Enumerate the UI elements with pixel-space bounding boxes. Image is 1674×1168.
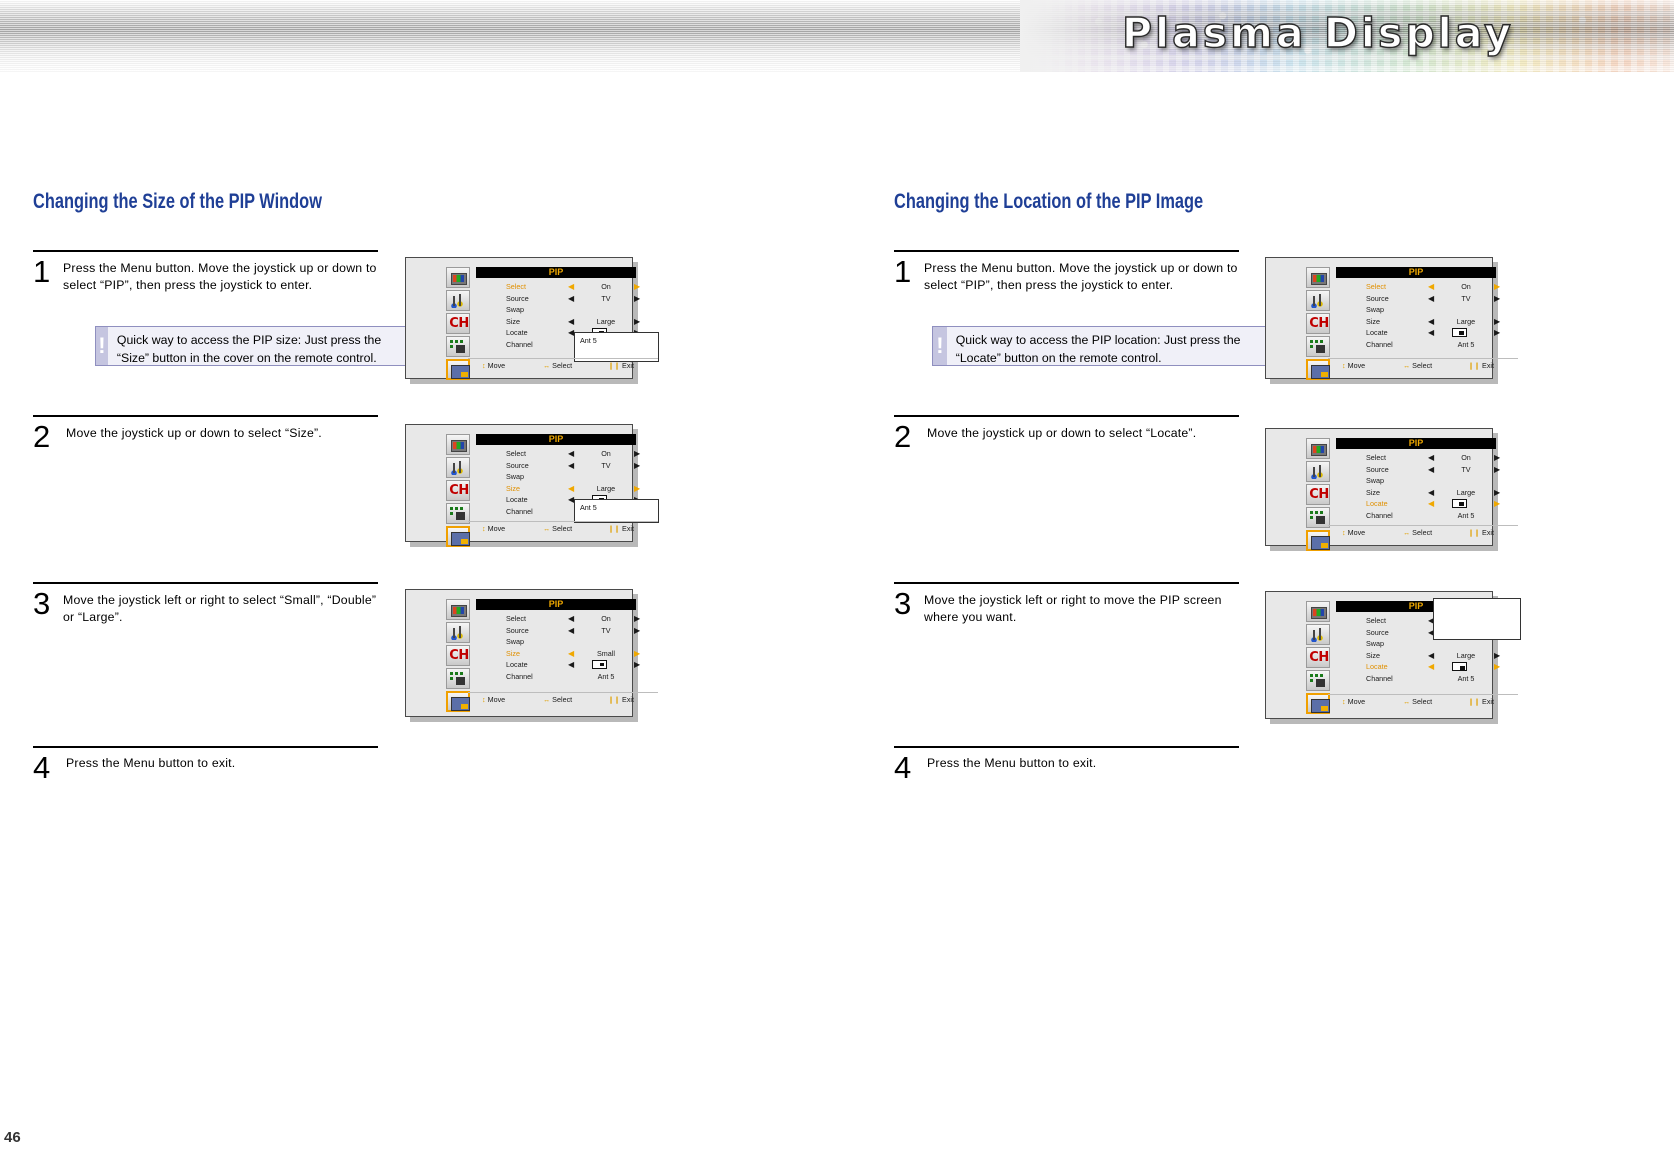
osd-illustration-left_page-step3: CHPIPSelect◀▶OnSource◀▶TVSwapSize◀▶Small… — [405, 589, 633, 717]
osd-footer-select[interactable]: ↔ Select — [1403, 697, 1432, 706]
page-title-left: Changing the Size of the PIP Window — [33, 190, 322, 214]
osd-title-bar: PIP — [476, 599, 636, 610]
step-number: 4 — [894, 752, 922, 783]
osd-row-label: Channel — [506, 672, 533, 681]
osd-row-value: On — [576, 282, 636, 291]
locate-dot — [1460, 666, 1465, 670]
osd-footer-move[interactable]: ↕ Move — [482, 524, 505, 533]
osd-row-value: Large — [1436, 488, 1496, 497]
osd-row-value: Ant 5 — [1436, 511, 1496, 520]
right-arrow-icon[interactable]: ▶ — [1494, 663, 1500, 671]
osd-row-value: Large — [576, 484, 636, 493]
osd-menu-row-source[interactable]: Source◀▶TV — [506, 461, 646, 473]
osd-menu-row-source[interactable]: Source◀▶TV — [506, 294, 646, 306]
left-arrow-icon[interactable]: ◀ — [1428, 489, 1434, 497]
osd-menu-row-select[interactable]: Select◀▶On — [506, 614, 646, 626]
osd-row-label: Select — [1366, 282, 1386, 291]
setup-icon[interactable] — [1306, 336, 1330, 357]
ch-icon[interactable]: CH — [1306, 313, 1330, 334]
osd-screen: CHPIPSelect◀▶OnSource◀▶TVSwapSize◀▶Large… — [1265, 591, 1493, 719]
osd-footer-exit[interactable]: ❙❙ Exit — [1468, 528, 1494, 537]
footer-glyph-icon: ❙❙ — [1468, 528, 1480, 537]
osd-row-label: Select — [506, 282, 526, 291]
pip-icon[interactable] — [1306, 693, 1330, 714]
step-number: 4 — [33, 752, 61, 783]
footer-glyph-icon: ↕ — [1342, 528, 1346, 537]
step-number: 1 — [33, 256, 61, 287]
left-arrow-icon[interactable]: ◀ — [1428, 329, 1434, 337]
step-text: Move the joystick left or right to selec… — [63, 592, 378, 627]
step-rule — [33, 746, 378, 748]
osd-row-label: Source — [506, 294, 529, 303]
osd-row-value: Ant 5 — [1436, 674, 1496, 683]
osd-row-label: Channel — [506, 507, 533, 516]
music-note-icon[interactable] — [446, 290, 470, 311]
ch-icon[interactable]: CH — [1306, 484, 1330, 505]
step-number: 3 — [894, 588, 922, 619]
right-arrow-icon[interactable]: ▶ — [1494, 500, 1500, 508]
footer-glyph-icon: ↕ — [1342, 361, 1346, 370]
osd-illustration-right_page-step3: CHPIPSelect◀▶OnSource◀▶TVSwapSize◀▶Large… — [1265, 591, 1493, 719]
left-arrow-icon[interactable]: ◀ — [1428, 663, 1434, 671]
osd-footer-select[interactable]: ↔ Select — [543, 361, 572, 370]
osd-illustration-right_page-step2: CHPIPSelect◀▶OnSource◀▶TVSwapSize◀▶Large… — [1265, 428, 1493, 546]
footer-glyph-icon: ↔ — [1403, 528, 1410, 537]
osd-row-value: Large — [576, 317, 636, 326]
tv-icon[interactable] — [1306, 601, 1330, 622]
osd-row-label: Swap — [1366, 305, 1384, 314]
osd-row-value: On — [1436, 453, 1496, 462]
pip-icon[interactable] — [1306, 530, 1330, 551]
osd-row-value: Ant 5 — [1436, 340, 1496, 349]
osd-title-bar: PIP — [476, 267, 636, 278]
osd-row-value: On — [576, 614, 636, 623]
osd-row-value: TV — [576, 461, 636, 470]
page-title-right: Changing the Location of the PIP Image — [894, 190, 1203, 214]
pip-icon[interactable] — [446, 359, 470, 380]
locate-position-indicator — [592, 660, 607, 669]
step-rule — [894, 250, 1239, 252]
osd-illustration-left_page-step2: CHPIPSelect◀▶OnSource◀▶TVSwapSize◀▶Large… — [405, 424, 633, 542]
locate-dot — [1459, 502, 1464, 506]
osd-row-label: Source — [1366, 628, 1389, 637]
osd-row-label: Size — [1366, 488, 1380, 497]
locate-position-indicator — [1452, 499, 1467, 508]
music-note-icon[interactable] — [1306, 461, 1330, 482]
osd-menu-row-source[interactable]: Source◀▶TV — [1366, 294, 1506, 306]
osd-menu-row-select[interactable]: Select◀▶On — [1366, 282, 1506, 294]
step-rule — [894, 582, 1239, 584]
osd-row-value: Large — [1436, 651, 1496, 660]
osd-menu-row-size[interactable]: Size◀▶Large — [1366, 317, 1506, 329]
step-number: 2 — [33, 421, 61, 452]
footer-glyph-icon: ❙❙ — [608, 695, 620, 704]
osd-row-label: Swap — [506, 305, 524, 314]
footer-glyph-icon: ↔ — [543, 361, 550, 370]
osd-row-value: TV — [576, 294, 636, 303]
osd-menu-row-swap[interactable]: Swap — [1366, 305, 1506, 317]
osd-row-label: Select — [506, 614, 526, 623]
footer-glyph-icon: ❙❙ — [608, 361, 620, 370]
osd-row-label: Locate — [506, 660, 528, 669]
locate-dot — [1459, 331, 1464, 335]
footer-glyph-icon: ❙❙ — [1468, 361, 1480, 370]
osd-illustration-left_page-step1: CHPIPSelect◀▶OnSource◀▶TVSwapSize◀▶Large… — [405, 257, 633, 379]
right-page: Changing the Location of the PIP Image 1… — [854, 0, 1674, 1168]
osd-row-label: Swap — [506, 472, 524, 481]
locate-position-indicator — [1452, 328, 1467, 337]
step-text: Press the Menu button. Move the joystick… — [63, 260, 378, 295]
osd-menu-row-source[interactable]: Source◀▶TV — [506, 626, 646, 638]
osd-footer-exit[interactable]: ❙❙ Exit — [608, 524, 634, 533]
osd-row-label: Select — [1366, 453, 1386, 462]
setup-icon[interactable] — [1306, 507, 1330, 528]
left-arrow-icon[interactable]: ◀ — [568, 283, 574, 291]
ch-icon[interactable]: CH — [446, 313, 470, 334]
osd-footer-bar: ↕ Move↔ Select❙❙ Exit — [1328, 525, 1518, 538]
osd-footer-move[interactable]: ↕ Move — [1342, 528, 1365, 537]
tv-icon[interactable] — [446, 599, 470, 620]
left-arrow-icon[interactable]: ◀ — [568, 650, 574, 658]
step-rule — [894, 415, 1239, 417]
osd-row-label: Size — [1366, 317, 1380, 326]
footer-glyph-icon: ❙❙ — [1468, 697, 1480, 706]
osd-footer-move[interactable]: ↕ Move — [482, 695, 505, 704]
left-arrow-icon[interactable]: ◀ — [568, 485, 574, 493]
osd-row-label: Locate — [1366, 328, 1388, 337]
left-arrow-icon[interactable]: ◀ — [568, 615, 574, 623]
osd-channel-value: Ant 5 — [580, 336, 597, 345]
osd-menu-row-size[interactable]: Size◀▶Large — [506, 317, 646, 329]
locate-position-indicator — [1452, 662, 1467, 671]
osd-row-label: Channel — [1366, 674, 1393, 683]
footer-glyph-icon: ❙❙ — [608, 524, 620, 533]
pip-icon[interactable] — [1306, 359, 1330, 380]
osd-row-label: Channel — [1366, 340, 1393, 349]
tv-icon[interactable] — [446, 434, 470, 455]
osd-icon-column: CH — [446, 599, 470, 714]
osd-screen: CHPIPSelect◀▶OnSource◀▶TVSwapSize◀▶Small… — [405, 589, 633, 717]
osd-menu-row-size[interactable]: Size◀▶Large — [506, 484, 646, 496]
osd-footer-exit[interactable]: ❙❙ Exit — [608, 361, 634, 370]
osd-menu-row-swap[interactable]: Swap — [1366, 476, 1506, 488]
osd-title-bar: PIP — [476, 434, 636, 445]
osd-menu-row-channel[interactable]: ChannelAnt 5 — [1366, 674, 1506, 686]
left-arrow-icon[interactable]: ◀ — [1428, 454, 1434, 462]
osd-title-text: PIP — [1336, 438, 1496, 449]
osd-menu-row-locate[interactable]: Locate◀▶ — [1366, 499, 1506, 511]
right-arrow-icon[interactable]: ▶ — [634, 661, 640, 669]
step-rule — [33, 582, 378, 584]
osd-footer-exit[interactable]: ❙❙ Exit — [1468, 361, 1494, 370]
pip-window-overlay — [1433, 598, 1521, 640]
osd-icon-column: CH — [1306, 267, 1330, 382]
exclamation-icon: ! — [933, 327, 947, 365]
tv-icon[interactable] — [446, 267, 470, 288]
osd-screen: CHPIPSelect◀▶OnSource◀▶TVSwapSize◀▶Large… — [1265, 257, 1493, 379]
step-number: 3 — [33, 588, 61, 619]
tip-box: ! Quick way to access the PIP size: Just… — [95, 326, 410, 366]
osd-footer-select[interactable]: ↔ Select — [1403, 361, 1432, 370]
music-note-icon[interactable] — [1306, 290, 1330, 311]
setup-icon[interactable] — [446, 668, 470, 689]
osd-footer-bar: ↕ Move↔ Select❙❙ Exit — [468, 692, 658, 705]
osd-footer-bar: ↕ Move↔ Select❙❙ Exit — [468, 358, 658, 371]
setup-icon[interactable] — [1306, 670, 1330, 691]
osd-row-value: On — [576, 449, 636, 458]
left-arrow-icon[interactable]: ◀ — [568, 661, 574, 669]
left-arrow-icon[interactable]: ◀ — [1428, 318, 1434, 326]
osd-footer-move[interactable]: ↕ Move — [1342, 361, 1365, 370]
osd-menu-row-size[interactable]: Size◀▶Large — [1366, 488, 1506, 500]
footer-glyph-icon: ↕ — [482, 695, 486, 704]
step-number: 2 — [894, 421, 922, 452]
osd-row-label: Channel — [506, 340, 533, 349]
osd-row-label: Size — [1366, 651, 1380, 660]
osd-screen: CHPIPSelect◀▶OnSource◀▶TVSwapSize◀▶Large… — [405, 257, 633, 379]
left-page: Changing the Size of the PIP Window 1 Pr… — [0, 0, 820, 1168]
tv-icon[interactable] — [1306, 438, 1330, 459]
osd-menu-row-swap[interactable]: Swap — [506, 305, 646, 317]
ch-icon[interactable]: CH — [1306, 647, 1330, 668]
osd-menu-row-swap[interactable]: Swap — [1366, 639, 1506, 651]
pip-icon[interactable] — [446, 526, 470, 547]
left-arrow-icon[interactable]: ◀ — [1428, 283, 1434, 291]
tip-box: ! Quick way to access the PIP location: … — [932, 326, 1272, 366]
osd-footer-bar: ↕ Move↔ Select❙❙ Exit — [1328, 694, 1518, 707]
osd-menu-row-locate[interactable]: Locate◀▶ — [1366, 328, 1506, 340]
music-note-icon[interactable] — [446, 622, 470, 643]
osd-channel-value: Ant 5 — [580, 503, 597, 512]
ch-icon[interactable]: CH — [446, 480, 470, 501]
osd-screen: CHPIPSelect◀▶OnSource◀▶TVSwapSize◀▶Large… — [1265, 428, 1493, 546]
osd-row-label: Swap — [506, 637, 524, 646]
footer-glyph-icon: ↔ — [1403, 697, 1410, 706]
osd-row-value: On — [1436, 282, 1496, 291]
osd-row-label: Source — [1366, 294, 1389, 303]
osd-row-value: TV — [1436, 465, 1496, 474]
osd-menu-row-select[interactable]: Select◀▶On — [506, 449, 646, 461]
exclamation-icon: ! — [96, 327, 108, 365]
osd-row-label: Source — [506, 626, 529, 635]
osd-menu-row-select[interactable]: Select◀▶On — [506, 282, 646, 294]
osd-row-label: Locate — [506, 495, 528, 504]
ch-icon[interactable]: CH — [446, 645, 470, 666]
osd-row-label: Size — [506, 649, 520, 658]
osd-icon-column: CH — [446, 434, 470, 549]
tip-text: Quick way to access the PIP location: Ju… — [947, 327, 1271, 365]
left-arrow-icon[interactable]: ◀ — [1428, 295, 1434, 303]
osd-row-value: Ant 5 — [576, 672, 636, 681]
left-arrow-icon[interactable]: ◀ — [1428, 466, 1434, 474]
osd-row-label: Locate — [1366, 662, 1388, 671]
osd-row-label: Locate — [1366, 499, 1388, 508]
osd-icon-column: CH — [1306, 438, 1330, 553]
osd-menu-row-locate[interactable]: Locate◀▶ — [1366, 662, 1506, 674]
osd-footer-bar: ↕ Move↔ Select❙❙ Exit — [468, 521, 658, 534]
left-arrow-icon[interactable]: ◀ — [568, 450, 574, 458]
osd-menu-row-source[interactable]: Source◀▶TV — [1366, 465, 1506, 477]
osd-illustration-right_page-step1: CHPIPSelect◀▶OnSource◀▶TVSwapSize◀▶Large… — [1265, 257, 1493, 379]
osd-channel-sub-panel: Ant 5 — [574, 499, 659, 523]
setup-icon[interactable] — [446, 336, 470, 357]
right-arrow-icon[interactable]: ▶ — [1494, 329, 1500, 337]
osd-title-bar: PIP — [1336, 267, 1496, 278]
osd-row-label: Locate — [506, 328, 528, 337]
osd-menu-row-swap[interactable]: Swap — [506, 472, 646, 484]
osd-row-value: TV — [576, 626, 636, 635]
step-rule — [33, 415, 378, 417]
osd-title-text: PIP — [1336, 267, 1496, 278]
osd-footer-select[interactable]: ↔ Select — [543, 695, 572, 704]
pip-icon[interactable] — [446, 691, 470, 712]
osd-menu-row-channel[interactable]: ChannelAnt 5 — [1366, 340, 1506, 352]
step-text: Move the joystick up or down to select “… — [66, 425, 378, 442]
footer-glyph-icon: ↕ — [482, 524, 486, 533]
osd-icon-column: CH — [446, 267, 470, 382]
osd-menu-row-size[interactable]: Size◀▶Small — [506, 649, 646, 661]
left-arrow-icon[interactable]: ◀ — [568, 318, 574, 326]
step-text: Press the Menu button to exit. — [66, 755, 378, 772]
osd-footer-move[interactable]: ↕ Move — [1342, 697, 1365, 706]
left-arrow-icon[interactable]: ◀ — [1428, 500, 1434, 508]
osd-menu-row-channel[interactable]: ChannelAnt 5 — [506, 672, 646, 684]
osd-row-label: Channel — [1366, 511, 1393, 520]
osd-menu-row-channel[interactable]: ChannelAnt 5 — [1366, 511, 1506, 523]
step-text: Move the joystick left or right to move … — [924, 592, 1242, 627]
left-arrow-icon[interactable]: ◀ — [568, 462, 574, 470]
osd-row-label: Source — [1366, 465, 1389, 474]
osd-title-text: PIP — [476, 599, 636, 610]
osd-menu-row-select[interactable]: Select◀▶On — [1366, 453, 1506, 465]
osd-menu-row-swap[interactable]: Swap — [506, 637, 646, 649]
footer-glyph-icon: ↕ — [482, 361, 486, 370]
footer-glyph-icon: ↔ — [543, 695, 550, 704]
osd-row-label: Size — [506, 484, 520, 493]
left-arrow-icon[interactable]: ◀ — [1428, 652, 1434, 660]
left-arrow-icon[interactable]: ◀ — [568, 295, 574, 303]
page-number-left: 46 — [4, 1129, 21, 1146]
osd-row-label: Swap — [1366, 639, 1384, 648]
step-text: Move the joystick up or down to select “… — [927, 425, 1239, 442]
setup-icon[interactable] — [446, 503, 470, 524]
footer-glyph-icon: ↔ — [1403, 361, 1410, 370]
osd-footer-exit[interactable]: ❙❙ Exit — [608, 695, 634, 704]
osd-row-label: Select — [1366, 616, 1386, 625]
osd-menu-row-locate[interactable]: Locate◀▶ — [506, 660, 646, 672]
osd-footer-exit[interactable]: ❙❙ Exit — [1468, 697, 1494, 706]
step-text: Press the Menu button to exit. — [927, 755, 1239, 772]
osd-screen: CHPIPSelect◀▶OnSource◀▶TVSwapSize◀▶Large… — [405, 424, 633, 542]
music-note-icon[interactable] — [1306, 624, 1330, 645]
step-number: 1 — [894, 256, 922, 287]
music-note-icon[interactable] — [446, 457, 470, 478]
osd-row-label: Source — [506, 461, 529, 470]
osd-row-label: Select — [506, 449, 526, 458]
tv-icon[interactable] — [1306, 267, 1330, 288]
osd-title-bar: PIP — [1336, 438, 1496, 449]
osd-row-label: Size — [506, 317, 520, 326]
step-rule — [894, 746, 1239, 748]
osd-footer-select[interactable]: ↔ Select — [543, 524, 572, 533]
osd-row-value: Small — [576, 649, 636, 658]
tip-text: Quick way to access the PIP size: Just p… — [108, 327, 409, 365]
osd-row-label: Swap — [1366, 476, 1384, 485]
osd-title-text: PIP — [476, 267, 636, 278]
osd-footer-bar: ↕ Move↔ Select❙❙ Exit — [1328, 358, 1518, 371]
osd-menu-row-size[interactable]: Size◀▶Large — [1366, 651, 1506, 663]
step-rule — [33, 250, 378, 252]
footer-glyph-icon: ↕ — [1342, 697, 1346, 706]
osd-title-text: PIP — [476, 434, 636, 445]
osd-row-value: Large — [1436, 317, 1496, 326]
step-text: Press the Menu button. Move the joystick… — [924, 260, 1239, 295]
osd-footer-select[interactable]: ↔ Select — [1403, 528, 1432, 537]
footer-glyph-icon: ↔ — [543, 524, 550, 533]
osd-row-value: TV — [1436, 294, 1496, 303]
osd-footer-move[interactable]: ↕ Move — [482, 361, 505, 370]
locate-dot — [600, 663, 604, 666]
left-arrow-icon[interactable]: ◀ — [568, 627, 574, 635]
osd-icon-column: CH — [1306, 601, 1330, 716]
